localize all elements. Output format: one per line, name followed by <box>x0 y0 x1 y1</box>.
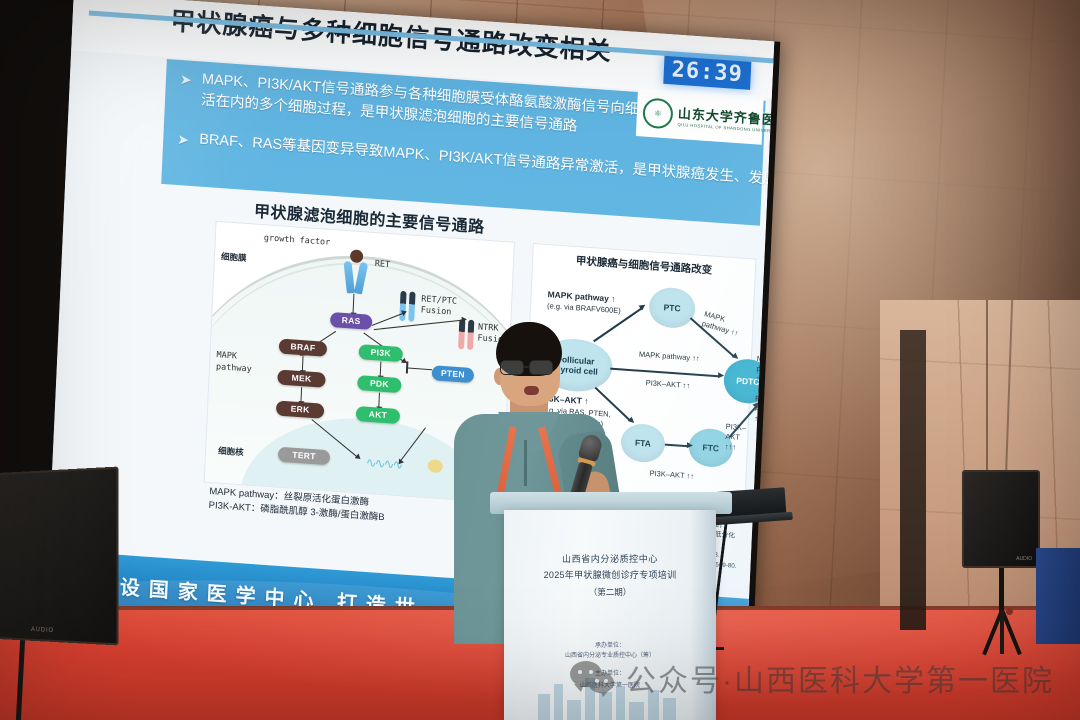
countdown-timer: 26:39 <box>663 56 751 90</box>
mapk-2up-mid-label: MAPK pathway ↑↑ <box>639 350 700 364</box>
hanging-wire-1 <box>986 300 988 472</box>
node-akt: AKT <box>356 406 401 424</box>
receptor-arm-left <box>343 261 355 294</box>
right-diagram-title: 甲状腺癌与细胞信号通路改变 <box>533 250 755 280</box>
lectern-line-4: 承办单位： <box>504 640 716 649</box>
watermark-text: 公众号·山西医科大学第一医院 <box>626 656 1054 700</box>
pi3k-2up-bottom-label: PI3K–AKT ↑↑ <box>649 469 694 482</box>
speaker-brand-right: AUDIO <box>1016 556 1032 562</box>
audio-speaker-right: AUDIO <box>962 470 1040 568</box>
mapk-2up-top-label: MAPK pathway ↑↑ <box>701 309 754 342</box>
pi3k-2up-mid-label: PI3K–AKT ↑↑ <box>645 378 690 391</box>
wechat-icon <box>570 661 616 695</box>
growth-factor-label: growth factor <box>264 233 331 248</box>
node-ras: RAS <box>330 312 373 330</box>
qilu-crest-icon: ⚛ <box>642 97 673 129</box>
mapk-pathway-label-1: MAPK <box>216 350 237 361</box>
ligand-icon <box>350 249 364 263</box>
node-pdk: PDK <box>357 375 402 393</box>
wechat-watermark: 公众号·山西医科大学第一医院 <box>570 656 1054 700</box>
arrow-fta-to-ftc <box>665 444 689 447</box>
receptor-arm-right <box>354 262 368 295</box>
pi3k-3up-mid-label: PI3K–AKT ↑↑↑ <box>725 422 748 453</box>
conference-photo: 甲状腺癌与多种细胞信号通路改变相关 ➤ MAPK、PI3K/AKT信号通路参与各… <box>0 0 1080 720</box>
presenter-mouth <box>524 386 539 395</box>
cell-ptc-top: PTC <box>648 286 696 329</box>
nucleus-label: 细胞核 <box>218 444 244 458</box>
wall-dark-column <box>900 330 926 630</box>
glasses-icon <box>498 360 562 375</box>
hospital-logo: ⚛ 山东大学齐鲁医院 QILU HOSPITAL OF SHANDONG UNI… <box>636 88 764 145</box>
ret-label: RET <box>375 259 391 270</box>
blue-stage-prop <box>1036 548 1080 644</box>
lectern-line-3: （第二期） <box>504 586 716 598</box>
node-pi3k: PI3K <box>358 344 403 362</box>
speaker-brand-left: AUDIO <box>31 627 54 634</box>
presenter-shirt-placket <box>524 440 527 486</box>
lectern-line-1: 山西省内分泌质控中心 <box>504 552 716 565</box>
chevron-right-icon: ➤ <box>180 69 193 90</box>
ret-ptc-fusion-label: Fusion <box>421 305 452 317</box>
ret-ptc-fusion-icon <box>398 291 417 322</box>
audio-speaker-left: AUDIO <box>0 467 119 646</box>
chevron-right-icon: ➤ <box>177 129 190 150</box>
lectern-line-2: 2025年甲状腺微创诊疗专项培训 <box>504 568 716 581</box>
speaker-tripod-right <box>962 560 1042 656</box>
membrane-label: 细胞膜 <box>221 250 247 264</box>
receptor-icon <box>341 249 369 295</box>
